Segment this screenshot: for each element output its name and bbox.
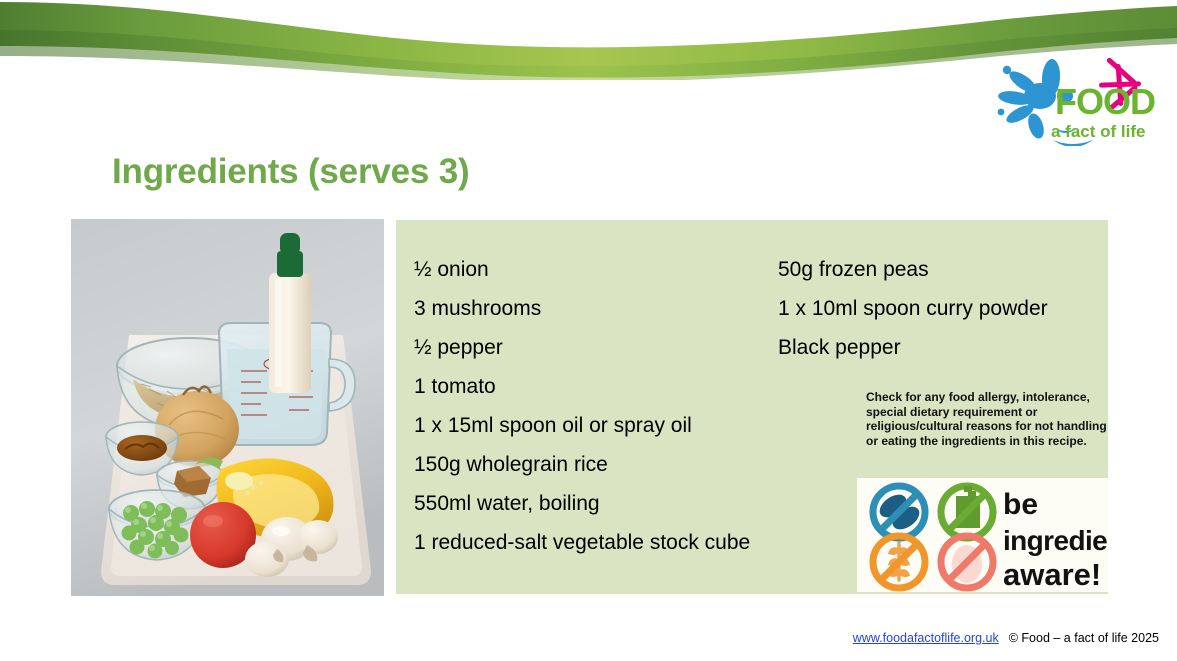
ingredient-item: Black pepper <box>778 328 1108 367</box>
ingredients-column-right: 50g frozen peas 1 x 10ml spoon curry pow… <box>778 250 1108 367</box>
brand-name-text: FOOD <box>1055 81 1155 122</box>
ingredient-item: 1 tomato <box>414 367 784 406</box>
ingredient-item: 50g frozen peas <box>778 250 1108 289</box>
ingredient-item: 150g wholegrain rice <box>414 445 784 484</box>
ingredient-item: 550ml water, boiling <box>414 484 784 523</box>
ingredients-column-left: ½ onion 3 mushrooms ½ pepper 1 tomato 1 … <box>414 250 784 562</box>
aware-logo-line2: ingredient <box>1003 525 1108 556</box>
slide-footer: www.foodafactoflife.org.uk© Food – a fac… <box>0 631 1177 645</box>
slide-canvas: FOOD a fact of life Ingredients (serves … <box>0 0 1177 661</box>
ingredients-panel: ½ onion 3 mushrooms ½ pepper 1 tomato 1 … <box>396 220 1108 594</box>
ingredient-item: 3 mushrooms <box>414 289 784 328</box>
ingredient-item: 1 reduced-salt vegetable stock cube <box>414 523 784 562</box>
ingredient-item: ½ onion <box>414 250 784 289</box>
copyright-text: © Food – a fact of life 2025 <box>1009 631 1159 645</box>
be-ingredient-aware-logo: be ingredient aware! <box>857 478 1108 592</box>
brand-tagline-text: a fact of life <box>1051 122 1145 141</box>
aware-logo-line1: be <box>1003 488 1038 521</box>
ingredient-item: 1 x 15ml spoon oil or spray oil <box>414 406 784 445</box>
ingredients-photo <box>71 219 384 596</box>
brand-logo: FOOD a fact of life <box>993 52 1165 146</box>
website-link[interactable]: www.foodafactoflife.org.uk <box>853 631 999 645</box>
allergy-warning-text: Check for any food allergy, intolerance,… <box>866 390 1114 448</box>
aware-logo-line3: aware! <box>1003 557 1101 592</box>
ingredient-item: ½ pepper <box>414 328 784 367</box>
ingredient-item: 1 x 10ml spoon curry powder <box>778 289 1108 328</box>
page-title: Ingredients (serves 3) <box>112 152 469 192</box>
